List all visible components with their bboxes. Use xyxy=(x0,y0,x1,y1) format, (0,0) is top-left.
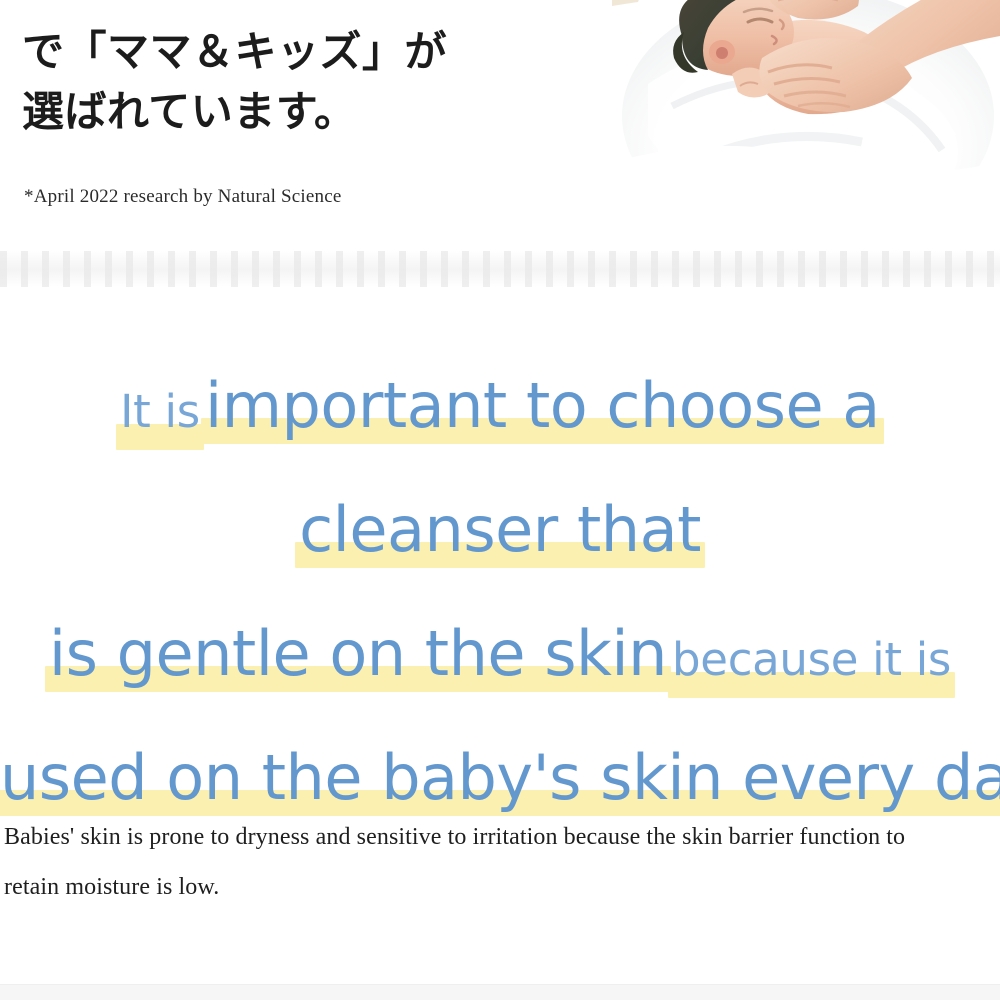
headline-seg-it-is: It is xyxy=(120,358,200,466)
headline-line-3: is gentle on the skin because it is xyxy=(0,600,1000,724)
japanese-headline-line-2: 選ばれています。 xyxy=(22,82,602,142)
top-section: 国産スキンケアブランド売上No.1 で「ママ＆キッズ」が 選ばれています。 *A… xyxy=(0,0,1000,250)
headline-line-2: cleanser that xyxy=(0,476,1000,600)
clipped-pink-headline-text: 国産スキンケアブランド売上No.1 xyxy=(22,0,602,6)
japanese-headline: で「ママ＆キッズ」が 選ばれています。 xyxy=(22,22,602,141)
japanese-headline-line-1: で「ママ＆キッズ」が xyxy=(22,22,602,82)
headline-seg-used-on-the-babys-skin-every-day: used on the baby's skin every day. xyxy=(0,724,1000,832)
headline-seg-important-to-choose-a: important to choose a xyxy=(205,352,880,460)
baby-bath-photo-graphic xyxy=(612,0,1000,196)
page-root: 国産スキンケアブランド売上No.1 で「ママ＆キッズ」が 選ばれています。 *A… xyxy=(0,0,1000,1000)
research-footnote: *April 2022 research by Natural Science xyxy=(24,186,342,208)
headline-seg-is-gentle-on-the-skin: is gentle on the skin xyxy=(49,600,667,708)
section-divider xyxy=(0,251,1000,287)
headline-seg-cleanser-that: cleanser that xyxy=(299,476,701,584)
headline-line-4: used on the baby's skin every day. xyxy=(0,724,1000,848)
headline-seg-because-it-is: because it is xyxy=(672,606,951,714)
headline-line-1: It is important to choose a xyxy=(0,352,1000,476)
baby-bath-photo xyxy=(612,0,1000,196)
bottom-band xyxy=(0,984,1000,1000)
clipped-pink-headline: 国産スキンケアブランド売上No.1 xyxy=(22,0,602,10)
main-headline: It is important to choose a cleanser tha… xyxy=(0,352,1000,848)
divider-texture xyxy=(0,251,1000,287)
